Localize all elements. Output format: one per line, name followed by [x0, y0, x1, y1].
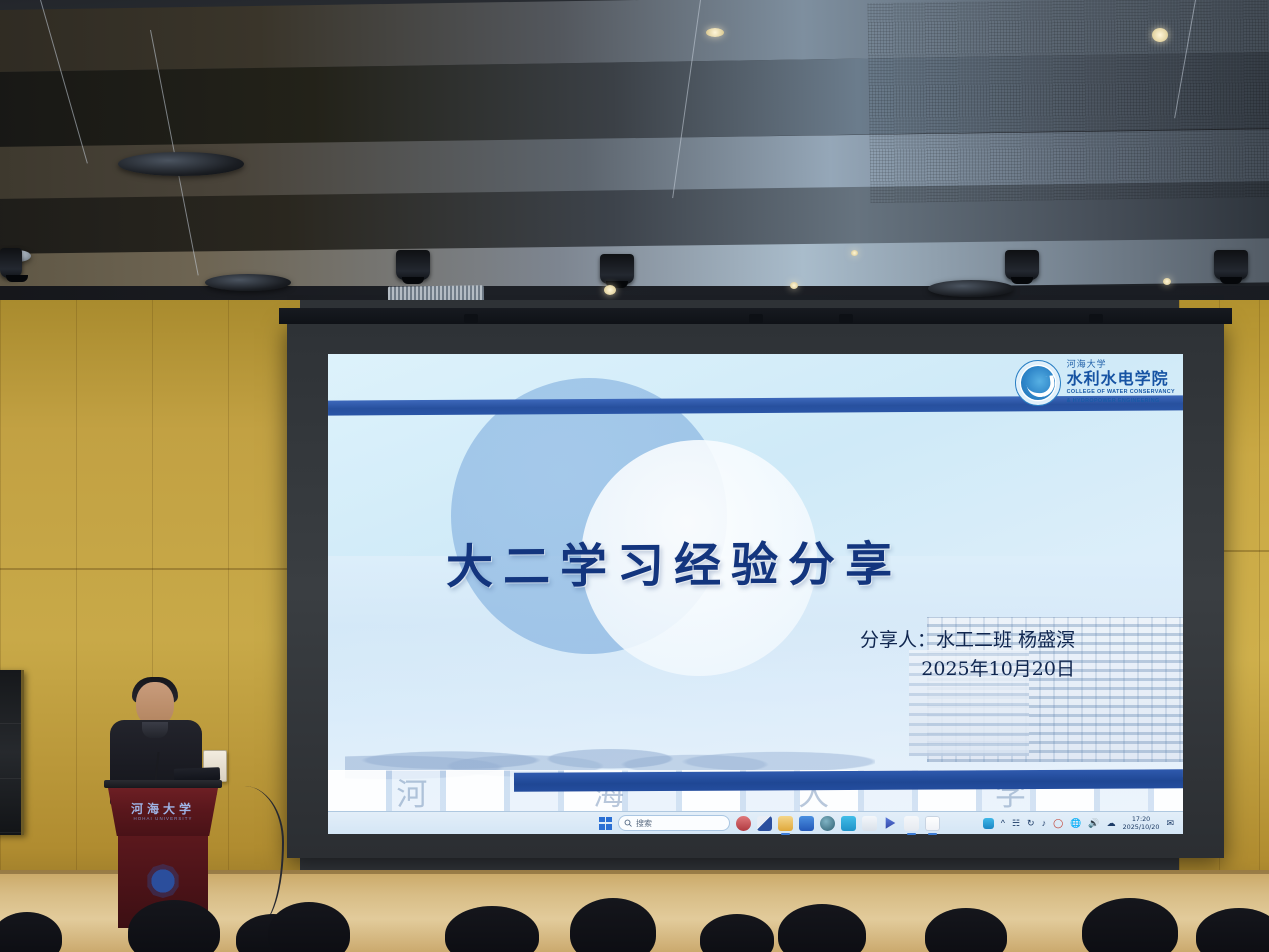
chinese-app-icon[interactable]: [736, 816, 751, 831]
wps-writer-icon[interactable]: [799, 816, 814, 831]
spotlight: [600, 254, 634, 284]
cloud-icon[interactable]: ☁: [1107, 819, 1116, 828]
audience-head: [570, 898, 656, 952]
clock-time: 17:20: [1123, 815, 1160, 823]
input-method-icon[interactable]: [983, 818, 994, 829]
ceiling-lamp: [604, 285, 616, 295]
globe-icon[interactable]: 🌐: [1070, 819, 1081, 828]
search-placeholder: 搜索: [636, 818, 652, 829]
sync-icon[interactable]: ↻: [1027, 819, 1035, 828]
audience-head: [1196, 908, 1269, 952]
sound-icon[interactable]: 🔊: [1088, 819, 1099, 828]
slide-bottom-accent-bar: [514, 769, 1183, 792]
spotlight: [0, 248, 22, 278]
audience-head: [778, 904, 866, 952]
ceiling: [0, 0, 1269, 318]
taskbar-center-group: 搜索: [599, 815, 940, 831]
presenter-collar: [142, 722, 168, 738]
ceiling-lamp: [851, 250, 858, 256]
hohai-university-seal-icon: [1015, 360, 1061, 406]
wall-seam: [0, 568, 300, 570]
taskbar-system-tray: ^ ☵ ↻ ♪ ◯ 🌐 🔊 ☁ 17:20 2025/10/20 ✉: [983, 815, 1177, 831]
video-player-icon[interactable]: [883, 816, 898, 831]
spotlight: [1005, 250, 1039, 280]
audience: [0, 890, 1269, 952]
wps-presentation-icon[interactable]: [904, 816, 919, 831]
spotlight: [1214, 250, 1248, 280]
search-input[interactable]: 搜索: [618, 815, 730, 831]
shield-icon[interactable]: ◯: [1053, 819, 1063, 828]
ceiling-speaker: [118, 152, 244, 176]
projection-screen[interactable]: 河 海 大 学 河海大学 水利水电学院 COLLEGE OF WATER C: [287, 322, 1224, 858]
ceiling-lamp: [1163, 278, 1171, 285]
ceiling-speaker: [928, 280, 1014, 297]
screen-mount: [1089, 314, 1103, 323]
wall-speaker-box: [0, 670, 24, 835]
perforated-ceiling-texture: [867, 0, 1269, 203]
podium-university-name-cn: 河海大学: [108, 800, 218, 817]
file-explorer-icon[interactable]: [778, 816, 793, 831]
logo-college-name: 水利水电学院: [1067, 371, 1175, 387]
presentation-slide: 河 海 大 学 河海大学 水利水电学院 COLLEGE OF WATER C: [328, 354, 1183, 834]
slide-presenter-line: 分享人：水工二班 杨盛溟: [860, 626, 1075, 655]
screen-mount: [839, 314, 853, 323]
audience-head: [700, 914, 774, 952]
file-explorer-legacy-icon[interactable]: [757, 816, 772, 831]
spotlight: [396, 250, 430, 280]
college-logo: 河海大学 水利水电学院 COLLEGE OF WATER CONSERVANCY…: [1015, 360, 1175, 406]
ceiling-speaker: [205, 274, 291, 291]
slide-date-line: 2025年10月20日: [860, 655, 1075, 684]
ceiling-lamp: [790, 282, 798, 289]
audience-head: [1082, 898, 1178, 952]
logo-english-line-2: & HYDROPOWER ENGINEERING: [1067, 398, 1175, 405]
pdf-reader-icon[interactable]: [862, 816, 877, 831]
slide-subtitle: 分享人：水工二班 杨盛溟 2025年10月20日: [860, 626, 1075, 683]
slide-title: 大二学习经验分享: [446, 524, 1066, 597]
wps-presentation-active-icon[interactable]: [925, 816, 940, 831]
search-icon: [624, 819, 632, 827]
audience-head: [445, 906, 539, 952]
screen-mount: [749, 314, 763, 323]
chevron-up-icon[interactable]: ^: [1001, 819, 1005, 828]
audience-head: [0, 912, 62, 952]
gate-character: 河: [396, 769, 429, 814]
clock[interactable]: 17:20 2025/10/20: [1123, 815, 1160, 831]
screen-mount: [464, 314, 478, 323]
college-logo-text: 河海大学 水利水电学院 COLLEGE OF WATER CONSERVANCY…: [1067, 361, 1175, 405]
podium-front-panel: 河海大学 HOHAI UNIVERSITY: [108, 788, 218, 836]
windows-taskbar[interactable]: 搜索 ^ ☵ ↻ ♪ ◯ 🌐 🔊: [328, 811, 1183, 834]
clock-date: 2025/10/20: [1123, 823, 1160, 831]
logo-english-line-1: COLLEGE OF WATER CONSERVANCY: [1067, 389, 1175, 396]
audience-head: [128, 900, 220, 952]
audience-head: [925, 908, 1007, 952]
network-icon[interactable]: ☵: [1012, 819, 1020, 828]
podium-university-name-en: HOHAI UNIVERSITY: [108, 816, 218, 821]
screen-top-rail: [279, 308, 1232, 324]
ceiling-lamp: [1152, 28, 1168, 42]
podium-top-surface: [104, 780, 222, 788]
notification-icon[interactable]: ✉: [1166, 819, 1174, 828]
audience-head: [268, 902, 350, 952]
navigation-app-icon[interactable]: [841, 816, 856, 831]
ceiling-lamp: [706, 28, 724, 37]
lecture-hall-scene: 河 海 大 学 河海大学 水利水电学院 COLLEGE OF WATER C: [0, 0, 1269, 952]
start-windows-icon[interactable]: [599, 817, 612, 830]
browser-globe-icon[interactable]: [820, 816, 835, 831]
volume-icon[interactable]: ♪: [1042, 819, 1047, 828]
